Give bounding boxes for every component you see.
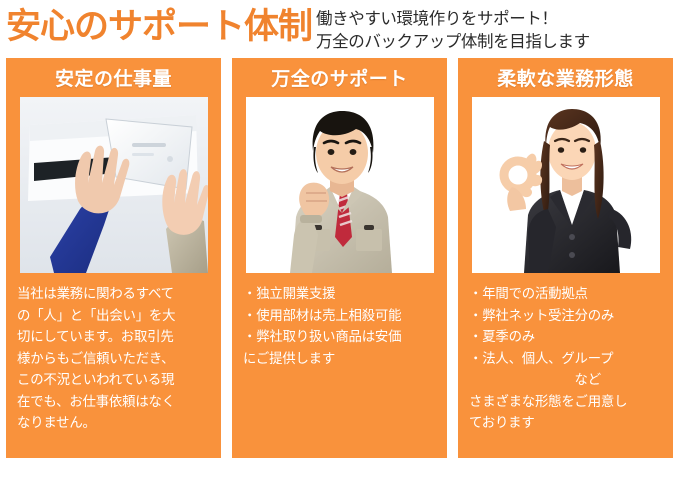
card-body-line: の「人」と「出会い」を大 — [17, 306, 216, 328]
card-title: 柔軟な業務形態 — [497, 65, 634, 95]
card-body-line: 在でも、お仕事依頼はなく — [17, 392, 216, 414]
card-body-line: ております — [469, 413, 668, 435]
card-body-line: ・独立開業支援 — [243, 284, 442, 306]
card-flexible-work-style[interactable]: 柔軟な業務形態 — [458, 58, 673, 458]
card-body-line: ・法人、個人、グループ — [469, 349, 668, 371]
air-conditioner-installation-photo — [20, 97, 208, 273]
smiling-male-worker-photo — [246, 97, 434, 273]
cards-row: 安定の仕事量 — [0, 58, 680, 458]
card-body-line: この不況といわれている現 — [17, 370, 216, 392]
card-body: ・独立開業支援 ・使用部材は売上相殺可能 ・弊社取り扱い商品は安価 にご提供しま… — [237, 284, 442, 370]
card-body-line: ・弊社ネット受注分のみ — [469, 306, 668, 328]
card-body-line: ・夏季のみ — [469, 327, 668, 349]
card-body-line: にご提供します — [243, 349, 442, 371]
card-full-support[interactable]: 万全のサポート — [232, 58, 447, 458]
card-body-line: 当社は業務に関わるすべて — [17, 284, 216, 306]
card-body-line: 切にしています。お取引先 — [17, 327, 216, 349]
banner-header: 安心のサポート体制 働きやすい環境作りをサポート！ 万全のバックアップ体制を目指… — [0, 0, 680, 58]
card-body: 当社は業務に関わるすべて の「人」と「出会い」を大 切にしています。お取引先 様… — [11, 284, 216, 435]
subtitle-block: 働きやすい環境作りをサポート！ 万全のバックアップ体制を目指します — [316, 7, 590, 53]
card-body-line: 様からもご信頼いただき、 — [17, 349, 216, 371]
card-body-line: ・弊社取り扱い商品は安価 — [243, 327, 442, 349]
card-body-line: ・使用部材は売上相殺可能 — [243, 306, 442, 328]
subtitle-line-2: 万全のバックアップ体制を目指します — [316, 30, 590, 53]
card-body-line: なりません。 — [17, 413, 216, 435]
card-body-line: など — [469, 370, 668, 392]
card-stable-workload[interactable]: 安定の仕事量 — [6, 58, 221, 458]
subtitle-line-1: 働きやすい環境作りをサポート！ — [316, 7, 590, 30]
page-title: 安心のサポート体制 — [6, 5, 312, 49]
card-body-line: さまざまな形態をご用意し — [469, 392, 668, 414]
card-body-line: ・年間での活動拠点 — [469, 284, 668, 306]
card-title: 万全のサポート — [271, 65, 408, 95]
smiling-businesswoman-ok-sign-photo — [472, 97, 660, 273]
card-body: ・年間での活動拠点 ・弊社ネット受注分のみ ・夏季のみ ・法人、個人、グループ … — [463, 284, 668, 435]
card-title: 安定の仕事量 — [55, 65, 172, 95]
